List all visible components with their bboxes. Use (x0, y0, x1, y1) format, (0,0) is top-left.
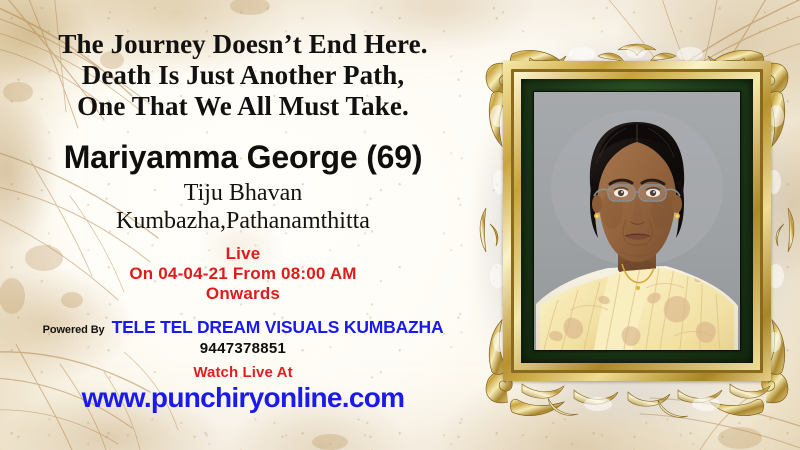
watch-live-label: Watch Live At (193, 364, 292, 381)
powered-by-row: Powered By TELE TEL DREAM VISUALS KUMBAZ… (43, 317, 444, 338)
memorial-quote: The Journey Doesn’t End Here. Death Is J… (58, 29, 427, 122)
live-schedule: On 04-04-21 From 08:00 AM (129, 264, 356, 284)
live-onwards: Onwards (129, 284, 356, 304)
deceased-place: Kumbazha,Pathanamthitta (116, 207, 370, 235)
quote-line-3: One That We All Must Take. (58, 91, 427, 122)
memorial-poster: The Journey Doesn’t End Here. Death Is J… (0, 0, 800, 450)
portrait-photo (534, 92, 740, 350)
quote-line-1: The Journey Doesn’t End Here. (58, 29, 427, 60)
deceased-name: Mariyamma George (69) (64, 139, 423, 175)
contact-phone: 9447378851 (200, 340, 286, 357)
announcement-text-column: The Journey Doesn’t End Here. Death Is J… (0, 0, 486, 450)
website-url[interactable]: www.punchiryonline.com (82, 382, 405, 413)
deceased-house-name: Tiju Bhavan (184, 179, 302, 207)
powered-by-label: Powered By (43, 324, 105, 336)
live-schedule-block: Live On 04-04-21 From 08:00 AM Onwards (129, 244, 356, 304)
provider-name: TELE TEL DREAM VISUALS KUMBAZHA (112, 317, 444, 338)
quote-line-2: Death Is Just Another Path, (58, 60, 427, 91)
portrait-frame (478, 42, 796, 424)
live-label: Live (129, 244, 356, 264)
